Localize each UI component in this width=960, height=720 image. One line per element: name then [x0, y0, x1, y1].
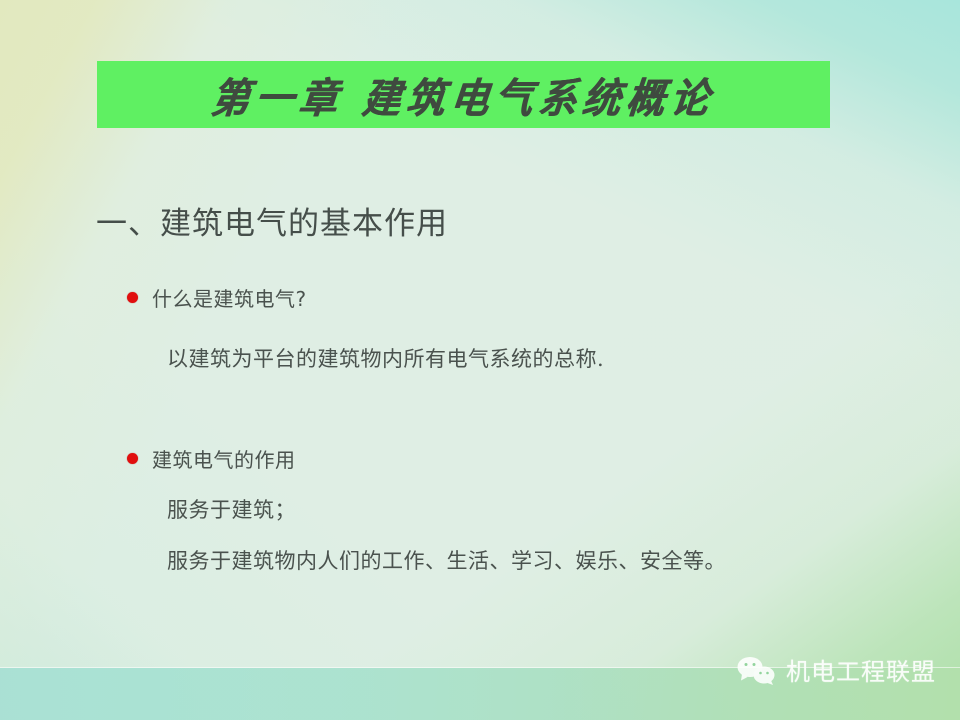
- bullet-dot-icon: [127, 453, 138, 464]
- bullet-item-1: 什么是建筑电气?: [127, 283, 307, 312]
- wechat-icon: [736, 655, 776, 685]
- watermark: 机电工程联盟: [736, 652, 936, 687]
- bullet-item-2-label: 建筑电气的作用: [152, 444, 296, 473]
- slide-canvas: 第一章 建筑电气系统概论 一、建筑电气的基本作用 什么是建筑电气? 以建筑为平台…: [0, 0, 960, 720]
- bullet-dot-icon: [127, 292, 138, 303]
- bullet-item-1-label: 什么是建筑电气?: [152, 283, 307, 312]
- bullet-item-1-subline-1: 以建筑为平台的建筑物内所有电气系统的总称.: [167, 343, 604, 373]
- bullet-item-2: 建筑电气的作用: [127, 444, 296, 473]
- title-banner: 第一章 建筑电气系统概论: [97, 61, 830, 128]
- bullet-item-2-subline-1: 服务于建筑；: [167, 494, 296, 524]
- section-heading: 一、建筑电气的基本作用: [96, 198, 448, 243]
- bullet-item-2-subline-2: 服务于建筑物内人们的工作、生活、学习、娱乐、安全等。: [167, 545, 726, 575]
- slide-title: 第一章 建筑电气系统概论: [209, 65, 718, 124]
- watermark-label: 机电工程联盟: [786, 652, 936, 687]
